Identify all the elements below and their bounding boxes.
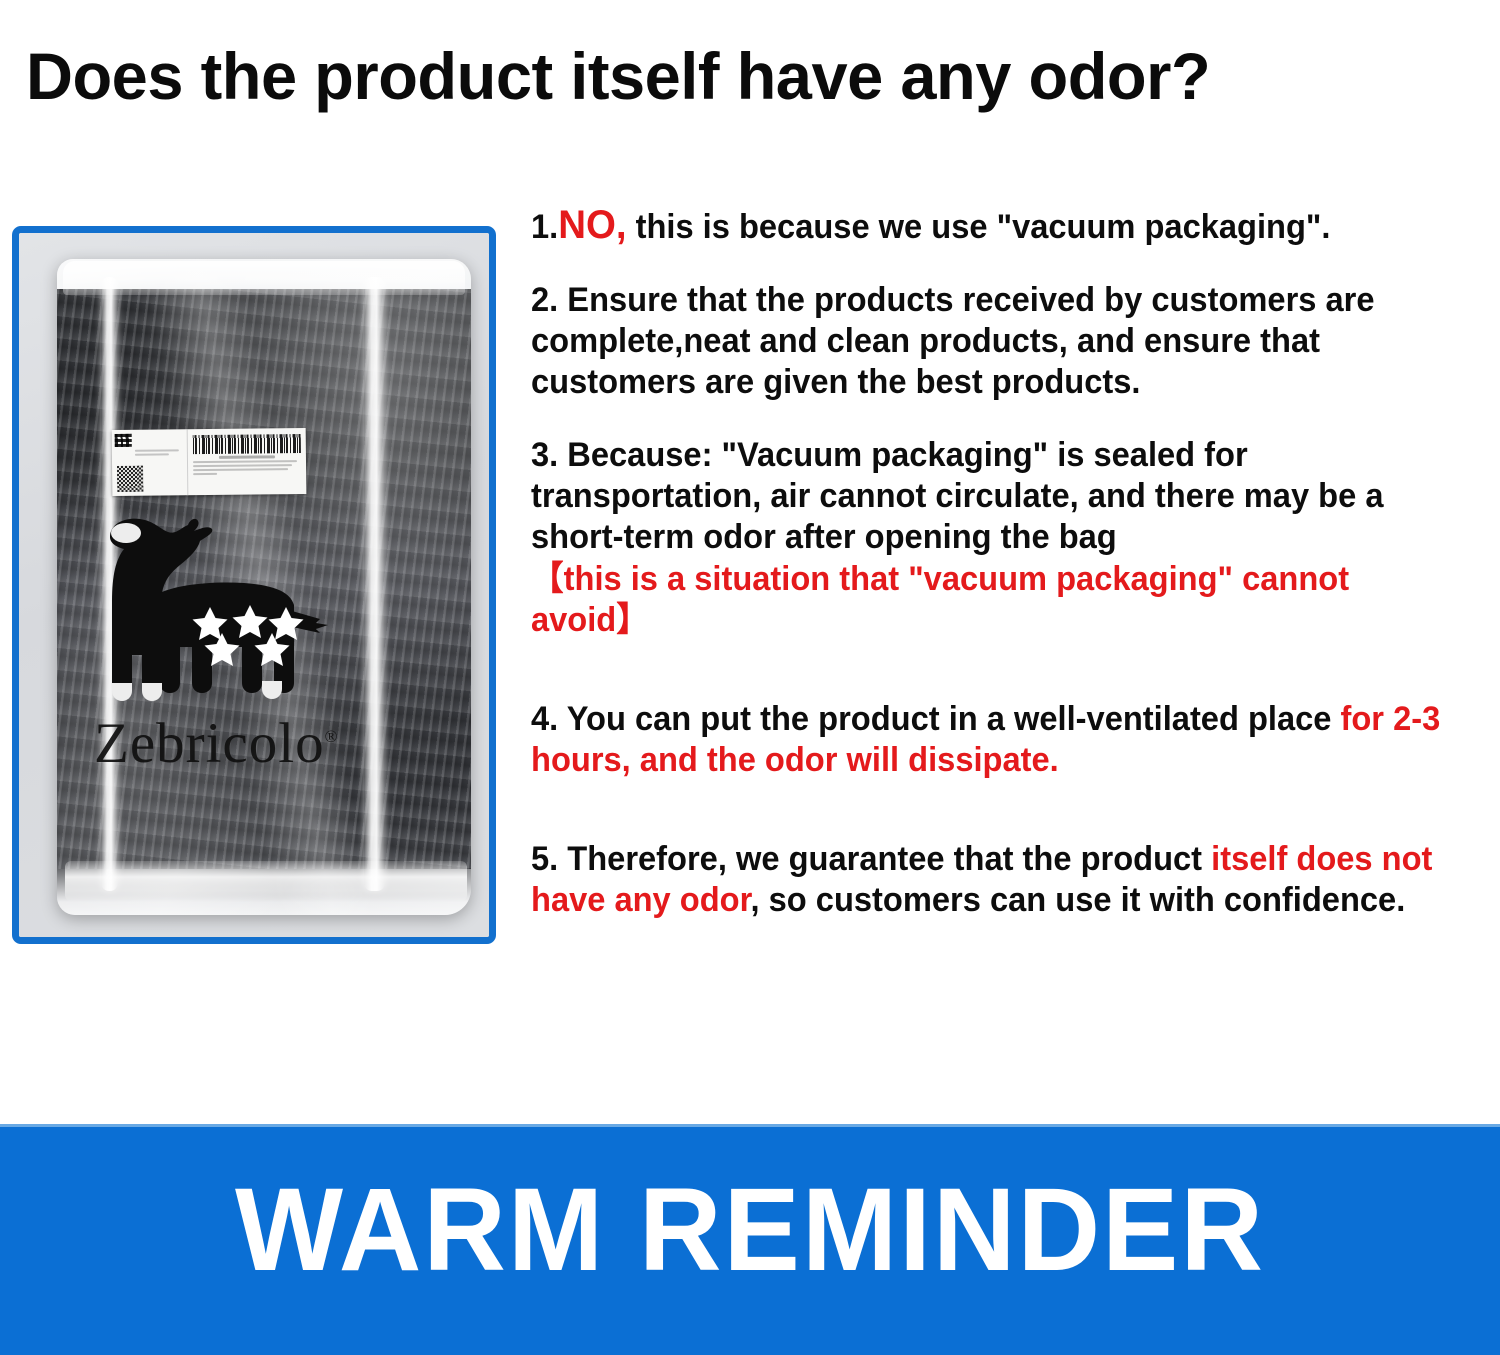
barcode-icon (193, 434, 301, 454)
product-photo-frame: Zebricolo® (12, 226, 496, 944)
shipping-label (112, 428, 307, 496)
faq-item-1-number: 1. (531, 208, 558, 246)
faq-item-5: 5. Therefore, we guarantee that the prod… (531, 839, 1445, 921)
faq-item-2-number: 2. (531, 281, 558, 319)
faq-item-5-text-a: Therefore, we guarantee that the product (558, 840, 1211, 878)
brand-wordmark: Zebricolo® (94, 711, 339, 776)
faq-item-1-highlight: NO, (558, 203, 626, 247)
faq-item-2: 2. Ensure that the products received by … (531, 280, 1445, 403)
faq-item-1: 1.NO, this is because we use "vacuum pac… (531, 205, 1445, 248)
bag-top-seal (63, 261, 465, 295)
faq-item-4: 4. You can put the product in a well-ven… (531, 699, 1445, 781)
faq-item-1-text: this is because we use "vacuum packaging… (627, 208, 1331, 246)
page-title: Does the product itself have any odor? (26, 38, 1464, 114)
faq-item-3: 3. Because: "Vacuum packaging" is sealed… (531, 435, 1445, 641)
faq-item-3-text: Because: "Vacuum packaging" is sealed fo… (531, 436, 1384, 556)
shipping-label-right (188, 428, 307, 495)
product-photo: Zebricolo® (19, 233, 489, 937)
faq-item-5-text-b: , so customers can use it with confidenc… (750, 881, 1405, 919)
barcode-number (219, 455, 275, 459)
faq-item-5-number: 5. (531, 840, 558, 878)
warm-reminder-text: WARM REMINDER (23, 1171, 1478, 1289)
qr-code-icon (117, 466, 143, 492)
zebra-silhouette-icon (102, 515, 362, 715)
warm-reminder-banner: WARM REMINDER (0, 1124, 1500, 1355)
shipping-label-left (112, 429, 189, 496)
faq-item-2-text: Ensure that the products received by cus… (531, 281, 1375, 401)
datamatrix-icon (115, 434, 132, 447)
brand-logo: Zebricolo® (94, 515, 394, 775)
odor-faq-list: 1.NO, this is because we use "vacuum pac… (531, 205, 1445, 921)
faq-item-3-number: 3. (531, 436, 558, 474)
faq-item-3-note: 【this is a situation that "vacuum packag… (531, 559, 1445, 641)
bag-bottom-seal (65, 861, 467, 901)
faq-item-4-text: You can put the product in a well-ventil… (558, 700, 1340, 738)
faq-item-4-number: 4. (531, 700, 558, 738)
